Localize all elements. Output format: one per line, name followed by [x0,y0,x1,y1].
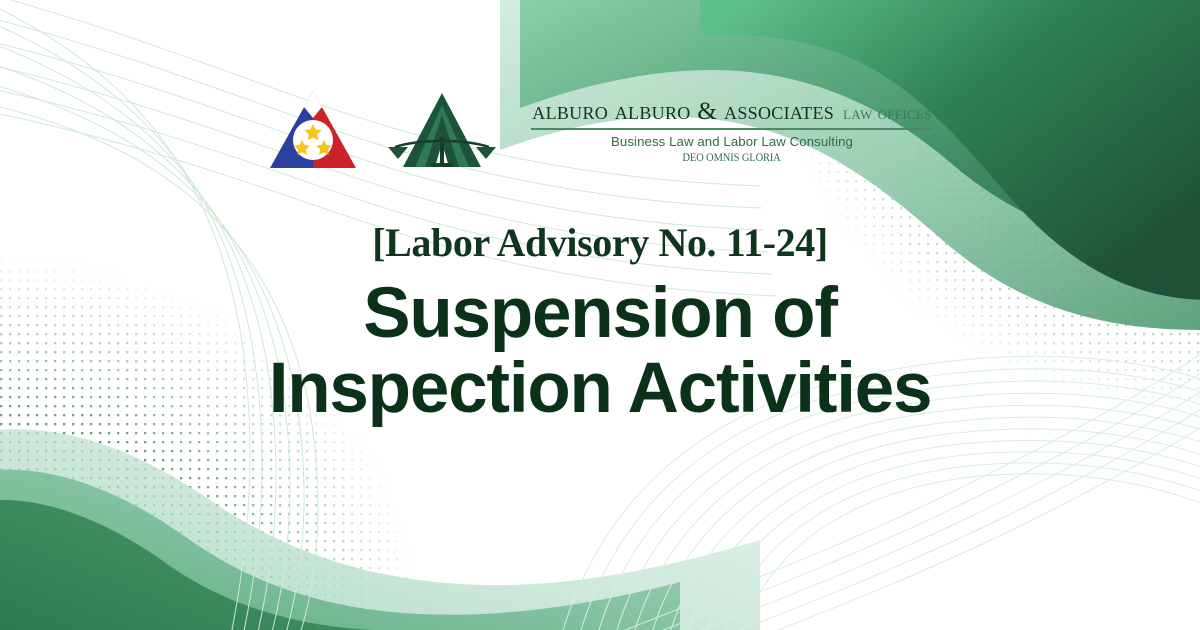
wave-bottom-left-pale [0,429,760,630]
firm-name: Alburo Alburo & Associates [532,96,834,126]
wave-bottom-left-deep [0,500,372,630]
firm-motto: DEO OMNIS GLORIA [683,151,781,164]
headline-line-1: Suspension of [0,276,1200,351]
advisory-poster: Alburo Alburo & Associates Law Offices B… [0,0,1200,630]
wordmark-divider [531,128,933,130]
law-offices-label: Law Offices [843,103,932,125]
advisory-number-tag: [Labor Advisory No. 11-24] [0,222,1200,264]
firm-wordmark: Alburo Alburo & Associates Law Offices B… [525,96,933,164]
dole-seal-icon [267,88,359,172]
headline-line-2: Inspection Activities [0,351,1200,426]
title-block: [Labor Advisory No. 11-24] Suspension of… [0,222,1200,427]
wave-bottom-left-mid [0,470,680,630]
alburo-scales-monogram-icon [385,89,499,171]
page-title: Suspension of Inspection Activities [0,276,1200,427]
brand-header: Alburo Alburo & Associates Law Offices B… [0,84,1200,176]
firm-tagline: Business Law and Labor Law Consulting [611,134,853,149]
